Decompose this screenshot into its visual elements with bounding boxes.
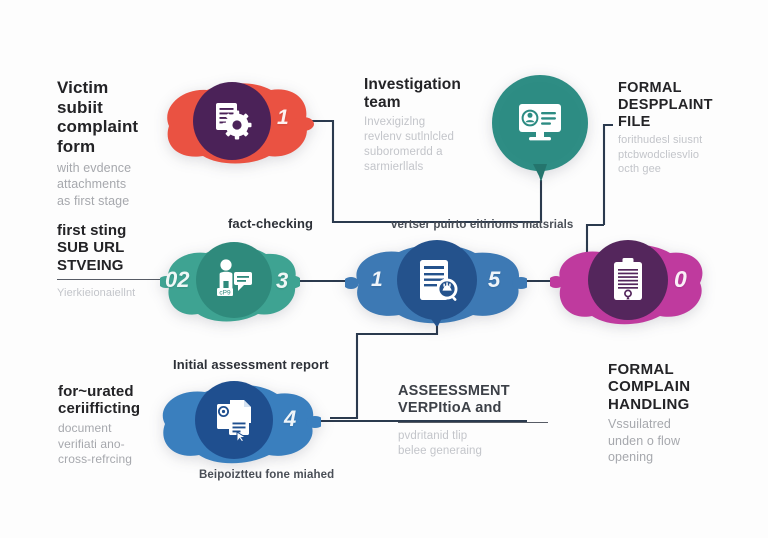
monitor-profile-icon <box>517 102 563 144</box>
node-core <box>508 91 572 155</box>
person-speech-bubble-icon: cP9 <box>211 257 257 303</box>
document-magnifier-icon <box>414 257 460 303</box>
node-number: 0 <box>674 266 687 293</box>
node-interview-witness[interactable]: cP9 02 3 <box>160 238 300 326</box>
node-core <box>588 240 668 320</box>
heading: FORMAL COMPLAIN HANDLING <box>608 361 748 413</box>
caption-fact-checking: fact-checking <box>228 216 313 231</box>
text-block-investigation-team: Investigation team Invexigizlng revlenv … <box>364 76 486 176</box>
node-formal-file[interactable]: 0 <box>550 237 710 327</box>
node-number: 1 <box>277 106 289 130</box>
node-investigation-monitor[interactable] <box>484 72 596 182</box>
caption-report-done: Beipoiztteu fone miahed <box>199 469 334 481</box>
node-core <box>195 381 273 459</box>
documents-cursor-icon <box>211 398 257 442</box>
heading: ASSEESSMENT VERPItioA and <box>398 383 568 417</box>
node-document-review[interactable]: 1 5 <box>345 238 527 326</box>
node-core <box>397 240 477 320</box>
clipboard-icon <box>608 257 648 303</box>
svg-text:cP9: cP9 <box>219 289 231 296</box>
caption-verification-materials: vertser puirto eitirioms matsrials <box>391 219 573 231</box>
node-number: 4 <box>284 406 296 432</box>
subtext: Invexigizlng revlenv sutlnlcled suborome… <box>364 115 486 176</box>
node-number-left: 1 <box>371 268 383 292</box>
document-gear-icon <box>210 99 254 143</box>
caption-initial-assessment-report: Initial assessment report <box>173 357 329 372</box>
node-core <box>193 82 271 160</box>
text-block-formal-dessplaint-file: FORMAL DESPPLAINT FILE forithudesl siusn… <box>618 80 750 177</box>
text-block-formal-complain-handling: FORMAL COMPLAIN HANDLING Vssuilatred und… <box>608 361 748 466</box>
subtext: forithudesl siusnt ptcbwodcliesvlio octh… <box>618 133 750 177</box>
divider-rule <box>398 422 548 423</box>
node-number-left: 02 <box>165 267 189 293</box>
infographic-canvas: Victim subiit complaint form with evdenc… <box>0 0 768 538</box>
subtext: pvdritanid tlip belee generaing <box>398 429 568 459</box>
subtext: Vssuilatred unden o flow opening <box>608 416 748 466</box>
node-core: cP9 <box>196 242 272 318</box>
text-block-asseessment-verification: ASSEESSMENT VERPItioA and pvdritanid tli… <box>398 383 568 459</box>
heading: FORMAL DESPPLAINT FILE <box>618 80 750 130</box>
heading: Investigation team <box>364 76 486 112</box>
node-number-right: 5 <box>488 267 500 293</box>
node-number-right: 3 <box>276 268 288 294</box>
node-assessment-report[interactable]: 4 <box>153 378 321 466</box>
node-complaint-form[interactable]: 1 <box>155 74 315 168</box>
